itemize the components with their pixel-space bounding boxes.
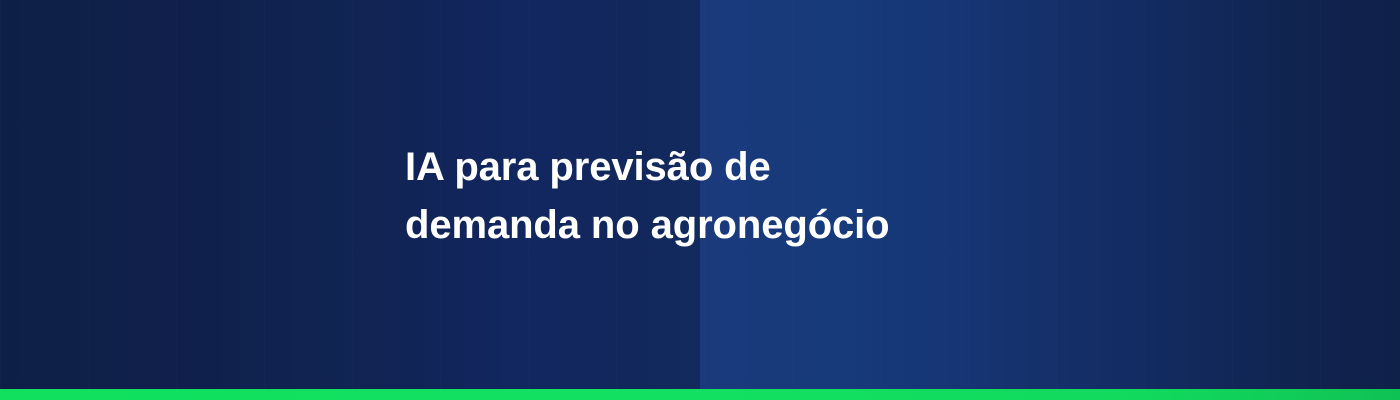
hero-banner: IA para previsão de demanda no agronegóc… bbox=[0, 0, 1400, 400]
bottom-accent-bar bbox=[0, 389, 1400, 400]
banner-content: IA para previsão de demanda no agronegóc… bbox=[405, 138, 890, 254]
banner-headline: IA para previsão de demanda no agronegóc… bbox=[405, 138, 890, 254]
